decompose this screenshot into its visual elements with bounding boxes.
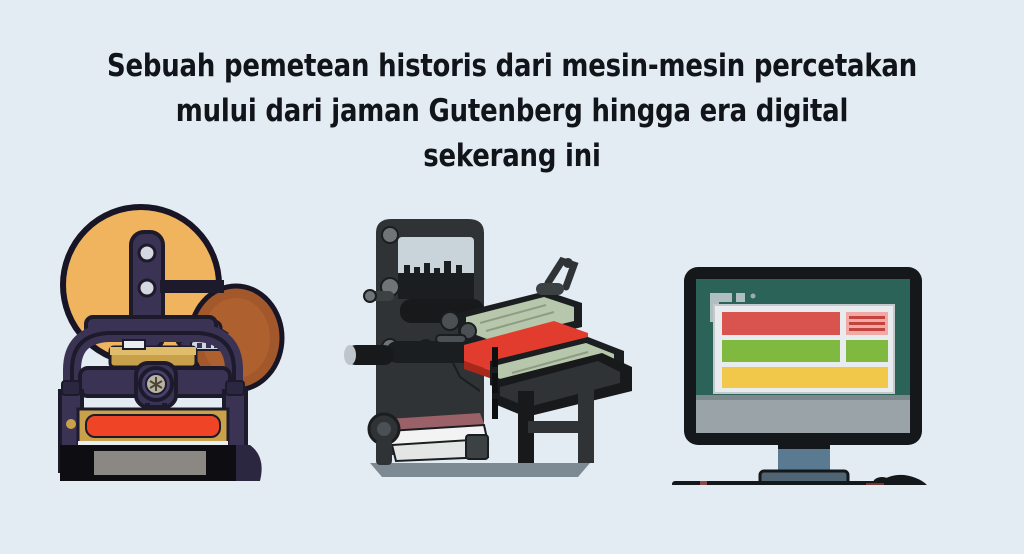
- title-line-3: sekerang ini: [36, 134, 988, 179]
- illustration-column-2: Cetak: [340, 195, 640, 495]
- page-title: Sebuah pemetean historis dari mesin-mesi…: [0, 44, 1024, 179]
- illustration-column-3: Digital: [670, 195, 970, 495]
- desktop-computer-monitor-icon: [670, 195, 970, 485]
- offset-printing-press-icon: [340, 195, 640, 485]
- title-line-1: Sebuah pemetean historis dari mesin-mesi…: [36, 44, 988, 89]
- illustration-column-1: Cetak: [28, 195, 328, 495]
- title-line-2: mului dari jaman Gutenberg hingga era di…: [36, 89, 988, 134]
- illustration-canvas: Sebuah pemetean historis dari mesin-mesi…: [0, 0, 1024, 554]
- gutenberg-printing-press-icon: [28, 195, 328, 485]
